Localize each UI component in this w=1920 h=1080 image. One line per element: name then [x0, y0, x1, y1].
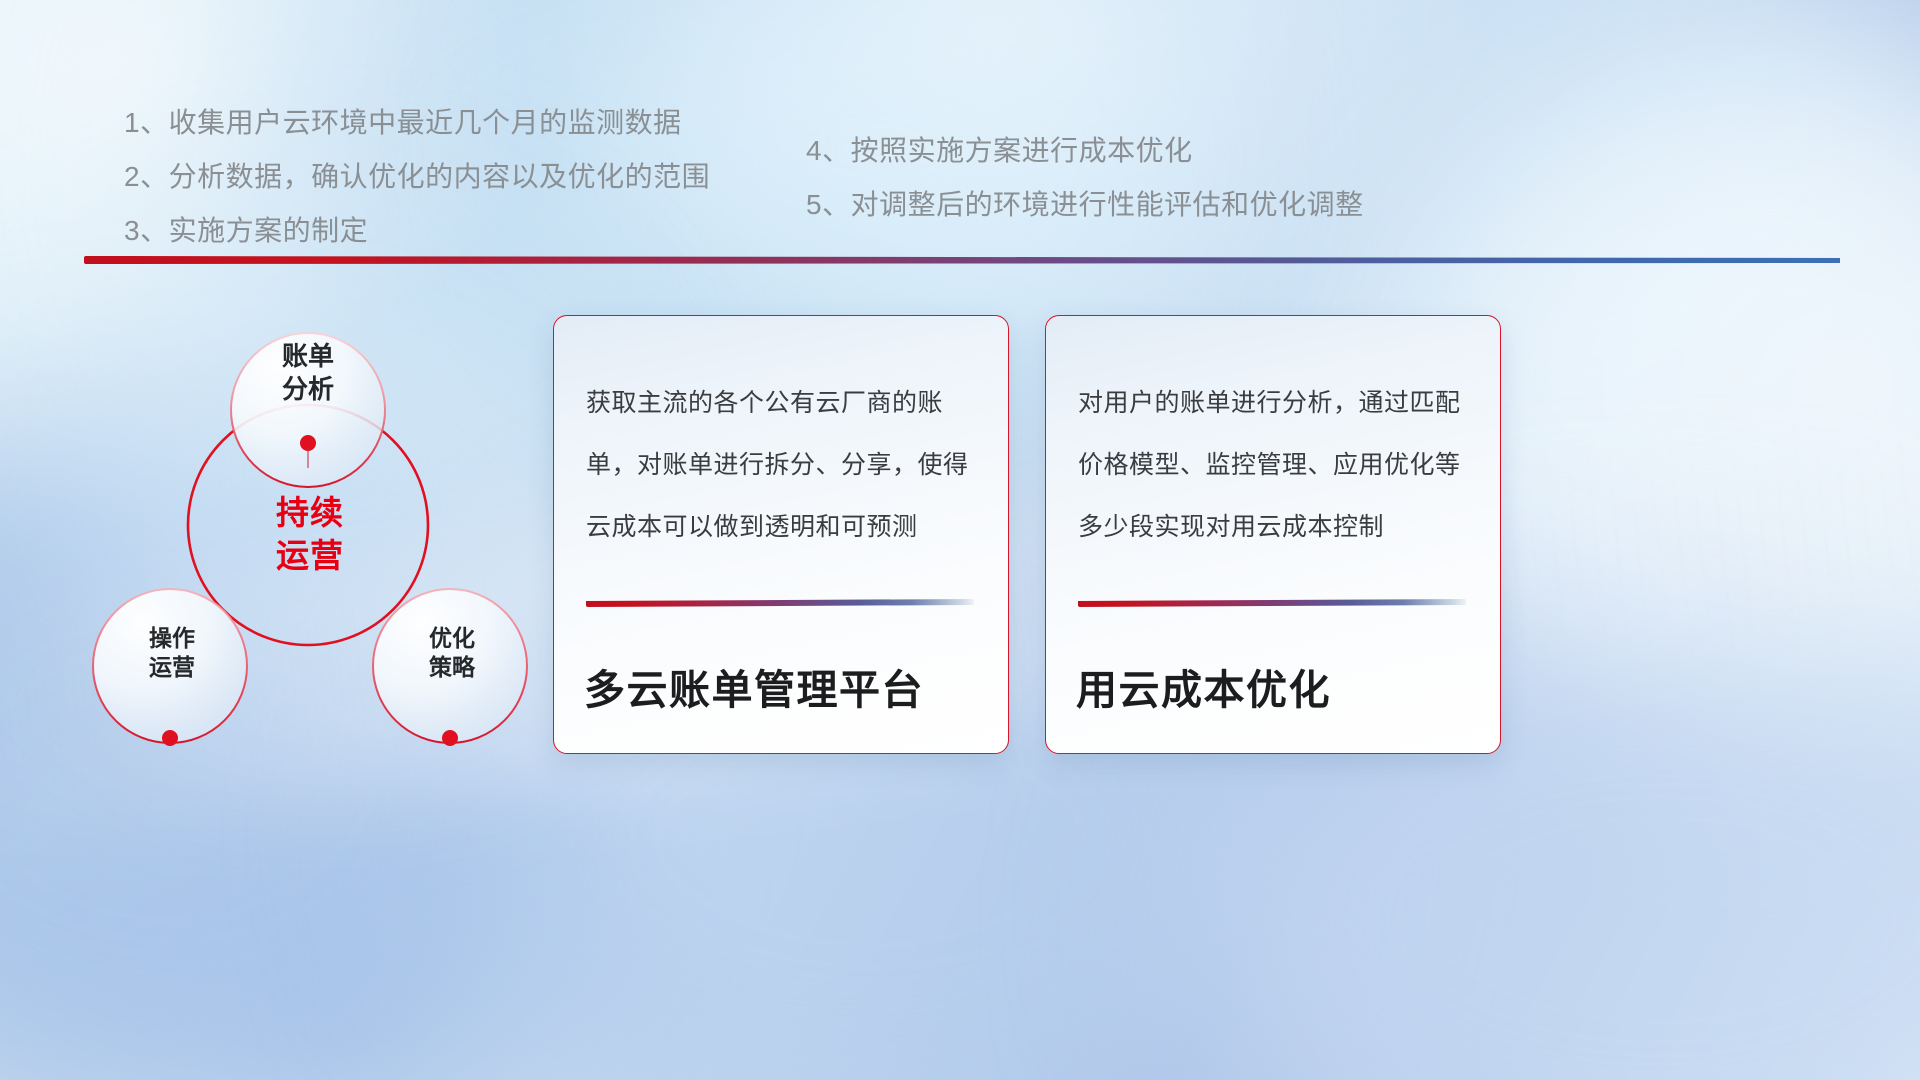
venn-center-label: 持续 运营 — [230, 492, 390, 578]
step-item: 5、对调整后的环境进行性能评估和优化调整 — [806, 178, 1364, 232]
venn-label-line: 策略 — [392, 653, 512, 682]
step-item: 2、分析数据，确认优化的内容以及优化的范围 — [124, 150, 710, 204]
venn-label-line: 分析 — [248, 373, 368, 406]
card-title: 多云账单管理平台 — [584, 656, 924, 716]
card-accent-line — [586, 599, 974, 607]
venn-center-label-line: 持续 — [230, 492, 390, 535]
venn-center-label-line: 运营 — [230, 535, 390, 578]
venn-label-line: 操作 — [112, 624, 232, 653]
venn-node-dot-bottom-right — [442, 730, 458, 746]
step-item: 1、收集用户云环境中最近几个月的监测数据 — [124, 96, 710, 150]
feature-card[interactable]: 获取主流的各个公有云厂商的账单，对账单进行拆分、分享，使得云成本可以做到透明和可… — [553, 315, 1009, 754]
card-body-text: 对用户的账单进行分析，通过匹配价格模型、监控管理、应用优化等多少段实现对用云成本… — [1078, 372, 1476, 558]
steps-list-left: 1、收集用户云环境中最近几个月的监测数据 2、分析数据，确认优化的内容以及优化的… — [124, 96, 710, 258]
step-item: 4、按照实施方案进行成本优化 — [806, 124, 1364, 178]
venn-label-line: 优化 — [392, 624, 512, 653]
venn-node-dot-bottom-left — [162, 730, 178, 746]
steps-list-right: 4、按照实施方案进行成本优化 5、对调整后的环境进行性能评估和优化调整 — [806, 124, 1364, 232]
venn-label-line: 账单 — [248, 340, 368, 373]
feature-card[interactable]: 对用户的账单进行分析，通过匹配价格模型、监控管理、应用优化等多少段实现对用云成本… — [1045, 315, 1501, 754]
card-title: 用云成本优化 — [1076, 656, 1331, 716]
venn-label-line: 运营 — [112, 653, 232, 682]
step-item: 3、实施方案的制定 — [124, 204, 710, 258]
venn-label-optimization-strategy: 优化 策略 — [392, 624, 512, 683]
venn-label-bill-analysis: 账单 分析 — [248, 340, 368, 407]
card-accent-line — [1078, 599, 1466, 607]
venn-label-operations: 操作 运营 — [112, 624, 232, 683]
venn-diagram: 账单 分析 操作 运营 优化 策略 持续 运营 — [70, 290, 540, 760]
card-body-text: 获取主流的各个公有云厂商的账单，对账单进行拆分、分享，使得云成本可以做到透明和可… — [586, 372, 984, 558]
